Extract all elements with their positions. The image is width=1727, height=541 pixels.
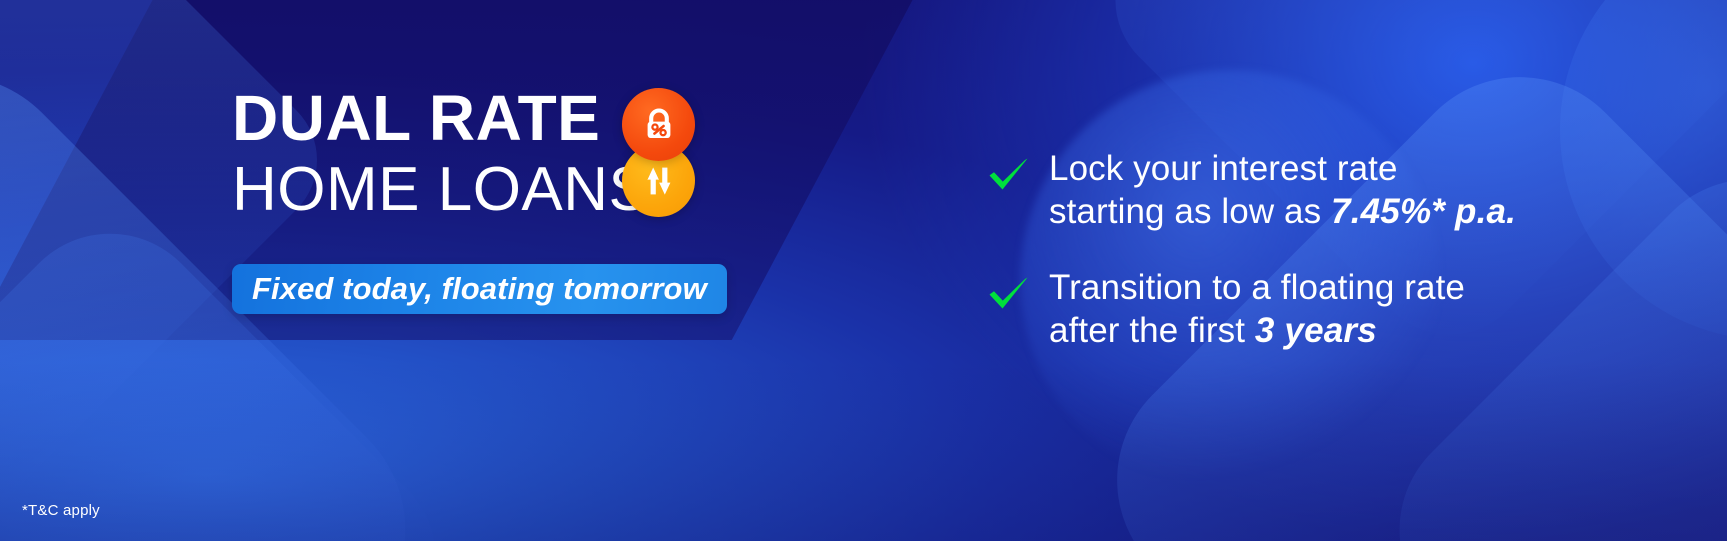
green-check-icon — [985, 271, 1031, 317]
lock-percent-badge — [622, 88, 695, 161]
benefit-line-2: after the first 3 years — [1049, 310, 1465, 353]
benefits-list: Lock your interest rate starting as low … — [985, 148, 1625, 353]
benefit-line-2-prefix: starting as low as — [1049, 192, 1331, 231]
banner-content: DUAL RATE HOME LOANS — [0, 0, 1727, 541]
terms-footnote: *T&C apply — [22, 502, 100, 519]
tagline-ribbon: Fixed today, floating tomorrow — [232, 264, 727, 314]
benefit-item: Transition to a floating rate after the … — [985, 267, 1625, 352]
benefit-text: Lock your interest rate starting as low … — [1049, 148, 1516, 233]
tagline-text: Fixed today, floating tomorrow — [252, 271, 707, 307]
swap-arrows-icon — [639, 161, 679, 201]
benefit-line-2-prefix: after the first — [1049, 311, 1255, 350]
lock-percent-icon — [638, 104, 680, 146]
benefit-line-2-emphasis: 7.45%* p.a. — [1331, 192, 1516, 231]
badge-group — [622, 88, 712, 233]
benefit-item: Lock your interest rate starting as low … — [985, 148, 1625, 233]
green-check-icon — [985, 152, 1031, 198]
benefit-line-1: Transition to a floating rate — [1049, 267, 1465, 310]
benefit-line-2-emphasis: 3 years — [1255, 311, 1377, 350]
dual-rate-home-loans-banner: DUAL RATE HOME LOANS — [0, 0, 1727, 541]
benefit-text: Transition to a floating rate after the … — [1049, 267, 1465, 352]
headline-block: DUAL RATE HOME LOANS — [232, 86, 772, 222]
benefit-line-2: starting as low as 7.45%* p.a. — [1049, 191, 1516, 234]
benefit-line-1: Lock your interest rate — [1049, 148, 1516, 191]
